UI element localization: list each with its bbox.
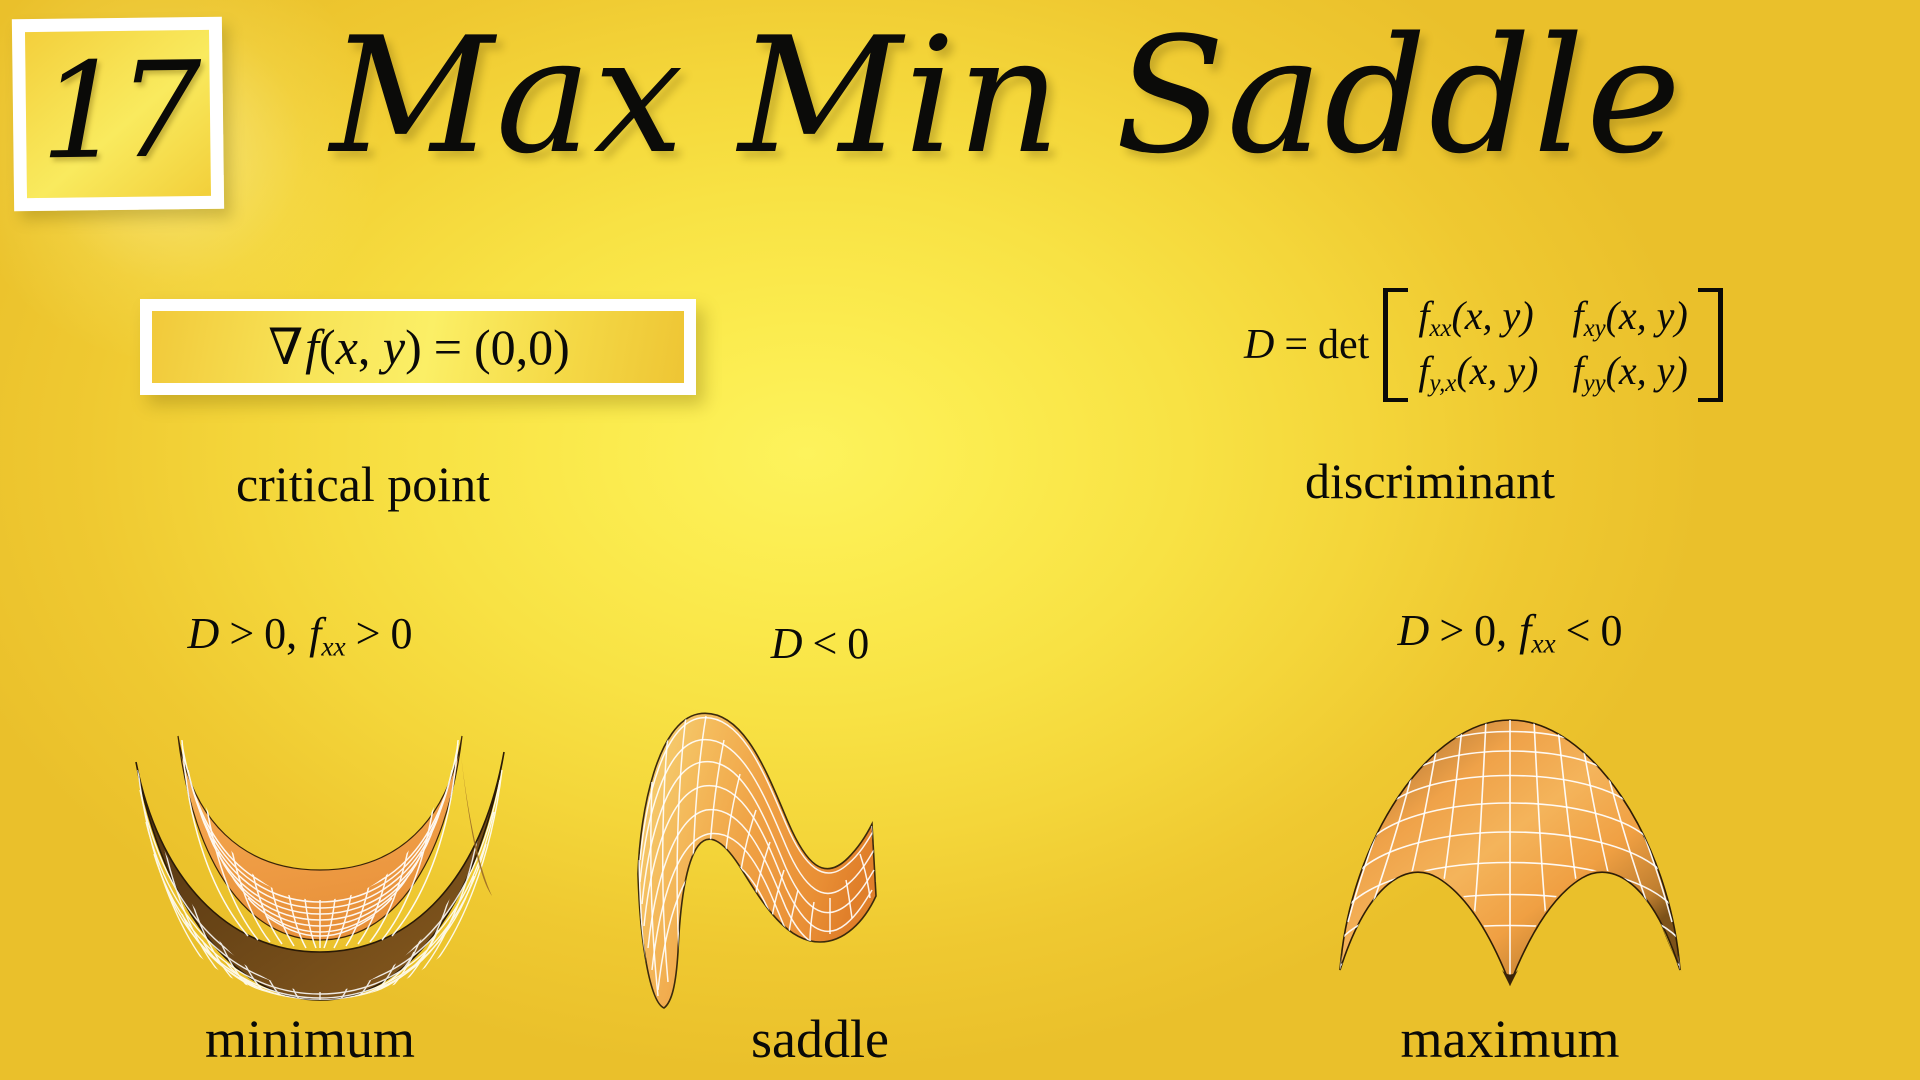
variable-D: D	[1244, 322, 1274, 368]
surface-plot-minimum	[130, 700, 510, 1010]
relation-operator: >	[346, 609, 391, 658]
function-f: f	[305, 319, 319, 375]
subscript-xx: xx	[321, 632, 345, 662]
relation-operator: <	[802, 619, 847, 668]
discriminant-formula: D=det fxx(x, y) fxy(x, y) fy,x(x, y) fyy…	[1244, 288, 1723, 402]
relation-operator: >	[1429, 606, 1474, 655]
cell-args: (x, y)	[1606, 348, 1688, 393]
hessian-matrix: fxx(x, y) fxy(x, y) fy,x(x, y) fyy(x, y)	[1383, 288, 1722, 402]
bracket-left-icon	[1383, 288, 1408, 402]
surface-plot-saddle	[580, 690, 900, 1020]
discriminant-caption: discriminant	[1210, 452, 1650, 510]
saddle-surface-svg	[580, 690, 900, 1020]
zero-vector-value: (0,0)	[474, 319, 570, 375]
slide-number-badge: 17	[12, 17, 224, 212]
nabla-symbol: ∇	[266, 319, 305, 375]
cell-subscript: yy	[1584, 370, 1606, 397]
variable-y: y	[383, 319, 405, 375]
paren-close: )	[405, 319, 422, 375]
comma-separator: ,	[358, 319, 383, 375]
cell-base: f	[1418, 293, 1429, 338]
cell-args: (x, y)	[1456, 348, 1538, 393]
cell-subscript: y,x	[1429, 370, 1456, 397]
cell-args: (x, y)	[1606, 293, 1688, 338]
cell-subscript: xy	[1584, 315, 1606, 342]
function-f: f	[1519, 606, 1531, 655]
cell-args: (x, y)	[1451, 293, 1533, 338]
function-f: f	[309, 609, 321, 658]
maximum-surface-svg	[1310, 690, 1710, 1020]
matrix-cell-r1c0: fy,x(x, y)	[1418, 347, 1538, 398]
page-title: Max Min Saddle	[330, 6, 1910, 185]
value-zero: 0,	[1474, 606, 1507, 655]
condition-minimum: D>0,fxx>0	[100, 608, 500, 663]
cell-base: f	[1572, 293, 1583, 338]
critical-point-formula-box: ∇f(x, y)=(0,0)	[140, 299, 696, 395]
slide-canvas: 17 Max Min Saddle ∇f(x, y)=(0,0) critica…	[0, 0, 1920, 1080]
critical-point-formula: ∇f(x, y)=(0,0)	[266, 318, 570, 376]
matrix-cell-r1c1: fyy(x, y)	[1572, 347, 1687, 398]
variable-D: D	[771, 619, 803, 668]
subscript-xx: xx	[1531, 629, 1555, 659]
surface-label-minimum: minimum	[110, 1008, 510, 1070]
critical-point-caption: critical point	[148, 455, 578, 513]
variable-D: D	[1398, 606, 1430, 655]
surface-label-saddle: saddle	[660, 1008, 980, 1070]
matrix-cell-r0c0: fxx(x, y)	[1418, 292, 1538, 343]
det-operator: det	[1318, 322, 1369, 368]
cell-subscript: xx	[1429, 315, 1451, 342]
minimum-surface-svg	[130, 700, 510, 1010]
value-zero: 0,	[264, 609, 297, 658]
condition-saddle: D<0	[660, 618, 980, 669]
matrix-cell-r0c1: fxy(x, y)	[1572, 292, 1687, 343]
variable-x: x	[336, 319, 358, 375]
equals-sign: =	[1274, 322, 1318, 368]
saddle-body	[638, 713, 876, 1008]
matrix-cells: fxx(x, y) fxy(x, y) fy,x(x, y) fyy(x, y)	[1408, 288, 1697, 402]
cell-base: f	[1418, 348, 1429, 393]
condition-maximum: D>0,fxx<0	[1300, 605, 1720, 660]
value-zero: 0	[1600, 606, 1622, 655]
value-zero: 0	[390, 609, 412, 658]
slide-number: 17	[25, 44, 211, 178]
paren-open: (	[319, 319, 336, 375]
surface-plot-maximum	[1310, 690, 1710, 1020]
variable-D: D	[188, 609, 220, 658]
surface-label-maximum: maximum	[1300, 1008, 1720, 1070]
cell-base: f	[1572, 348, 1583, 393]
discriminant-lead: D=det	[1244, 321, 1369, 369]
relation-operator: <	[1556, 606, 1601, 655]
equals-sign: =	[422, 319, 474, 375]
bracket-right-icon	[1698, 288, 1723, 402]
relation-operator: >	[219, 609, 264, 658]
value-zero: 0	[847, 619, 869, 668]
